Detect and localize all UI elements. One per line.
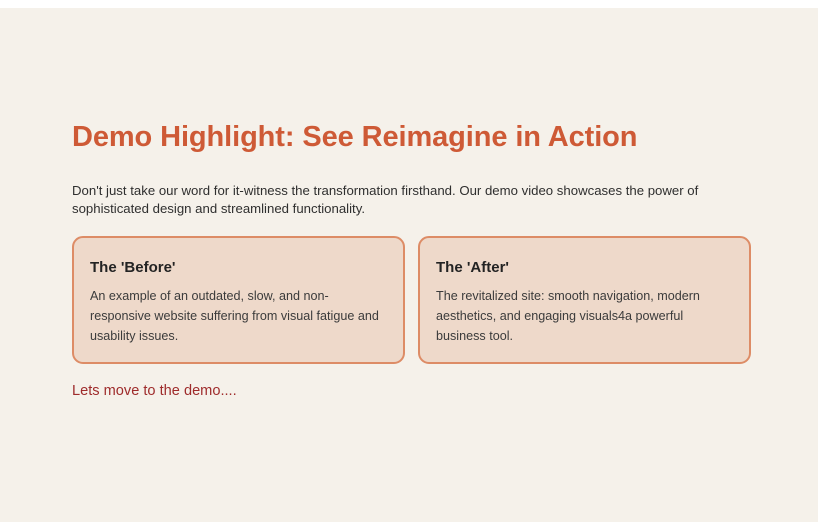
after-card: The 'After' The revitalized site: smooth…: [418, 236, 751, 364]
after-card-body: The revitalized site: smooth navigation,…: [436, 286, 729, 346]
page-canvas: Demo Highlight: See Reimagine in Action …: [0, 8, 818, 522]
demo-cta-link[interactable]: Lets move to the demo....: [72, 381, 237, 401]
content-column: Demo Highlight: See Reimagine in Action …: [72, 8, 752, 401]
after-card-title: The 'After': [436, 259, 729, 277]
intro-paragraph: Don't just take our word for it-witness …: [72, 154, 714, 217]
before-card-body: An example of an outdated, slow, and non…: [90, 286, 383, 346]
page-title: Demo Highlight: See Reimagine in Action: [72, 8, 752, 154]
comparison-card-group: The 'Before' An example of an outdated, …: [72, 236, 752, 364]
before-card: The 'Before' An example of an outdated, …: [72, 236, 405, 364]
before-card-title: The 'Before': [90, 259, 383, 277]
